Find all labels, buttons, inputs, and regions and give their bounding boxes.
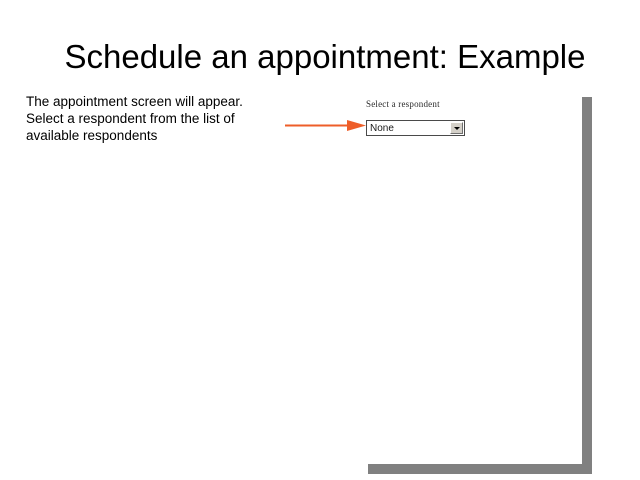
- chevron-down-icon: [454, 127, 460, 130]
- respondent-select[interactable]: None: [366, 120, 465, 136]
- respondent-form-group: Select a respondent None: [366, 99, 471, 136]
- right-arrow-icon: [283, 117, 369, 135]
- page-title: Schedule an appointment: Example: [30, 38, 620, 76]
- respondent-field-label: Select a respondent: [366, 99, 471, 110]
- respondent-select-value: None: [370, 122, 394, 135]
- slide-canvas: Schedule an appointment: Example The app…: [0, 0, 640, 480]
- frame-edge-bottom: [368, 464, 592, 474]
- frame-edge-right: [582, 97, 592, 474]
- respondent-select-toggle[interactable]: [450, 122, 463, 134]
- body-text: The appointment screen will appear. Sele…: [26, 93, 258, 144]
